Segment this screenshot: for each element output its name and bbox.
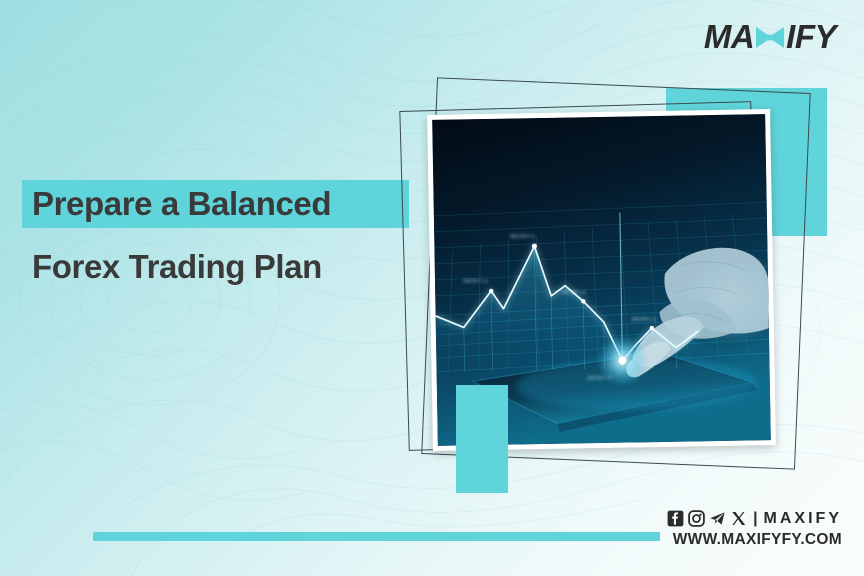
social-icons-row: | MAXIFY (667, 510, 842, 527)
headline-line2-text: Forex Trading Plan (22, 250, 442, 283)
logo-text-ify: IFY (786, 20, 836, 53)
telegram-icon[interactable] (709, 510, 726, 527)
cyan-footer-bar (93, 532, 660, 541)
brand-logo[interactable]: MA IFY (704, 18, 836, 54)
instagram-icon[interactable] (688, 510, 705, 527)
svg-text:158,648.2 ▼: 158,648.2 ▼ (587, 375, 612, 380)
footer-website-url[interactable]: WWW.MAXIFYFY.COM (667, 532, 842, 548)
social-divider: | (753, 511, 757, 527)
svg-text:555,067.4 ▲: 555,067.4 ▲ (463, 278, 488, 283)
headline-line1-highlight: Prepare a Balanced (22, 180, 409, 228)
headline-line1-text: Prepare a Balanced (32, 187, 399, 220)
cyan-rectangle-bottom (456, 385, 508, 493)
poster-canvas: MA IFY Prepare a Balanced Forex Trading … (0, 0, 864, 576)
logo-text-ma: MA (704, 20, 754, 53)
page-title: Prepare a Balanced Forex Trading Plan (22, 180, 442, 283)
footer-brand-name: MAXIFY (764, 511, 842, 527)
svg-text:445,886.2 ▲: 445,886.2 ▲ (561, 289, 586, 294)
facebook-icon[interactable] (667, 510, 684, 527)
x-bowtie-icon (755, 25, 785, 50)
svg-text:886,330.8 ▲: 886,330.8 ▲ (510, 233, 535, 238)
svg-text:396,533.2 ▲: 396,533.2 ▲ (632, 316, 657, 321)
footer-social-block: | MAXIFY WWW.MAXIFYFY.COM (667, 510, 842, 548)
x-twitter-icon[interactable] (730, 510, 747, 527)
